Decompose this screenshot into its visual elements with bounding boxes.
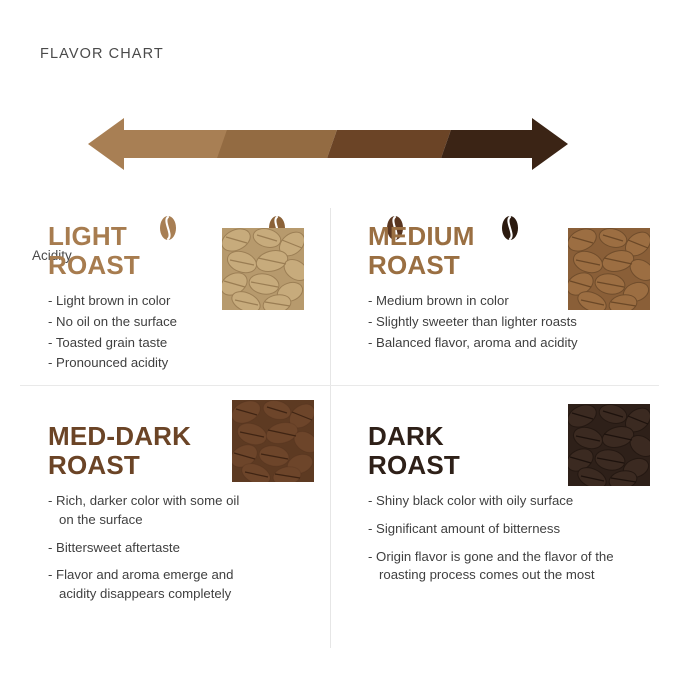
list-item: - Balanced flavor, aroma and acidity [368, 334, 647, 353]
list-item: - Shiny black color with oily surface [368, 492, 647, 511]
flavor-chart-page: FLAVOR CHART Acidity Bitterness LI [0, 0, 679, 679]
list-item: - Rich, darker color with some oil on th… [48, 492, 249, 529]
page-title: FLAVOR CHART [40, 46, 164, 62]
roast-gradient-bar [88, 104, 568, 184]
horizontal-divider [20, 385, 659, 386]
list-item: - Pronounced acidity [48, 354, 327, 373]
list-item: - Flavor and aroma emerge and acidity di… [48, 566, 259, 603]
list-item: - Bittersweet aftertaste [48, 539, 327, 558]
roast-quadrant-grid: LIGHT ROAST - Light brown in color - No … [0, 200, 679, 660]
roast-gradient-bar-svg [88, 104, 568, 184]
list-item: - Slightly sweeter than lighter roasts [368, 313, 647, 332]
quadrant-bullet-list: - Shiny black color with oily surface - … [368, 492, 660, 585]
medium-roast-bean-photo [568, 228, 650, 310]
med-dark-roast-bean-photo [232, 400, 314, 482]
dark-roast-bean-photo [568, 404, 650, 486]
light-roast-bean-photo [222, 228, 304, 310]
list-item: - Origin flavor is gone and the flavor o… [368, 548, 631, 585]
roast-scale: Acidity Bitterness LIGHT MEDIUM MED-DA [0, 104, 679, 184]
quadrant-bullet-list: - Rich, darker color with some oil on th… [48, 492, 330, 604]
list-item: - Toasted grain taste [48, 334, 327, 353]
list-item: - Significant amount of bitterness [368, 520, 647, 539]
list-item: - No oil on the surface [48, 313, 327, 332]
vertical-divider [330, 208, 331, 648]
